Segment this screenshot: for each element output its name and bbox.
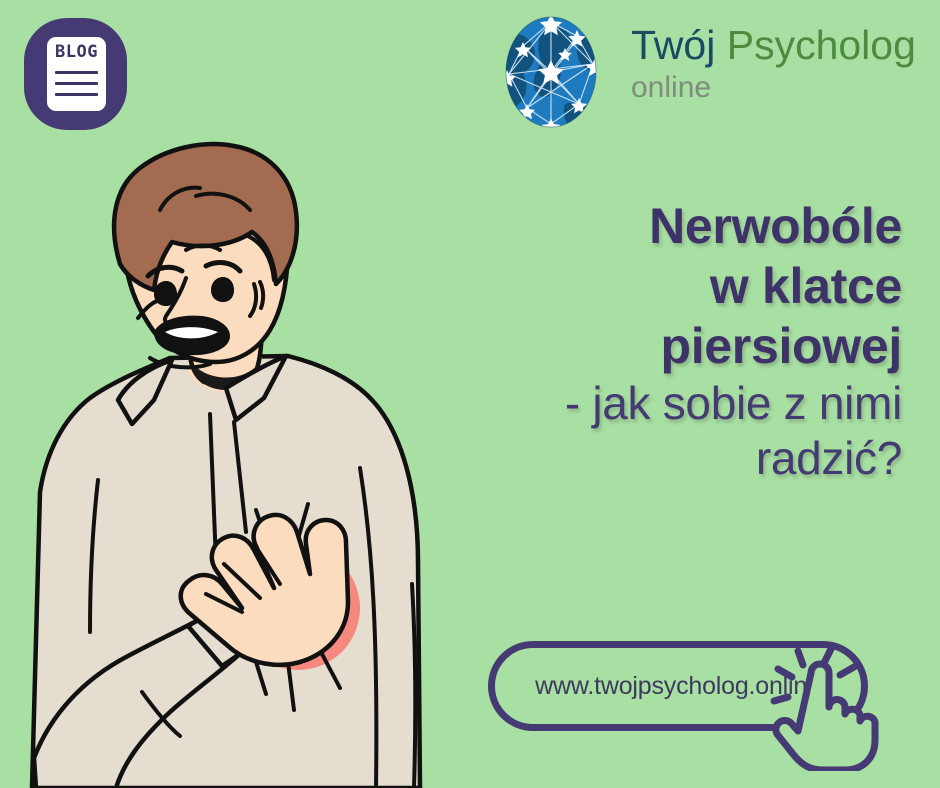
headline-line-1: Nerwobóle [432, 196, 902, 256]
blog-label: BLOG [47, 44, 106, 61]
globe-network-icon [493, 12, 609, 132]
pointing-hand-click-icon [728, 643, 893, 771]
brand-subtitle: online [631, 73, 916, 103]
headline-line-4: - jak sobie z nimi [432, 376, 902, 431]
brand-name-part1: Twój [631, 22, 715, 68]
blog-line-3 [55, 93, 98, 96]
blog-badge[interactable]: BLOG [24, 18, 127, 130]
blog-line-1 [55, 71, 98, 74]
headline-line-5: radzić? [432, 431, 902, 486]
headline-line-2: w klatce [432, 256, 902, 316]
blog-document-icon: BLOG [47, 37, 106, 111]
page-title: Nerwobóle w klatce piersiowej - jak sobi… [432, 196, 902, 486]
brand-text-block: Twój Psycholog online [631, 25, 916, 103]
blog-line-2 [55, 82, 98, 85]
poster-canvas: BLOG [0, 0, 940, 788]
brand-logo[interactable]: Twój Psycholog online [493, 12, 916, 132]
brand-name-part2: Psycholog [727, 22, 916, 68]
website-url-button[interactable]: www.twojpsycholog.online [488, 641, 894, 734]
headline-line-3: piersiowej [432, 316, 902, 376]
man-with-chest-pain-illustration [20, 132, 460, 788]
brand-title-line: Twój Psycholog [631, 25, 916, 67]
